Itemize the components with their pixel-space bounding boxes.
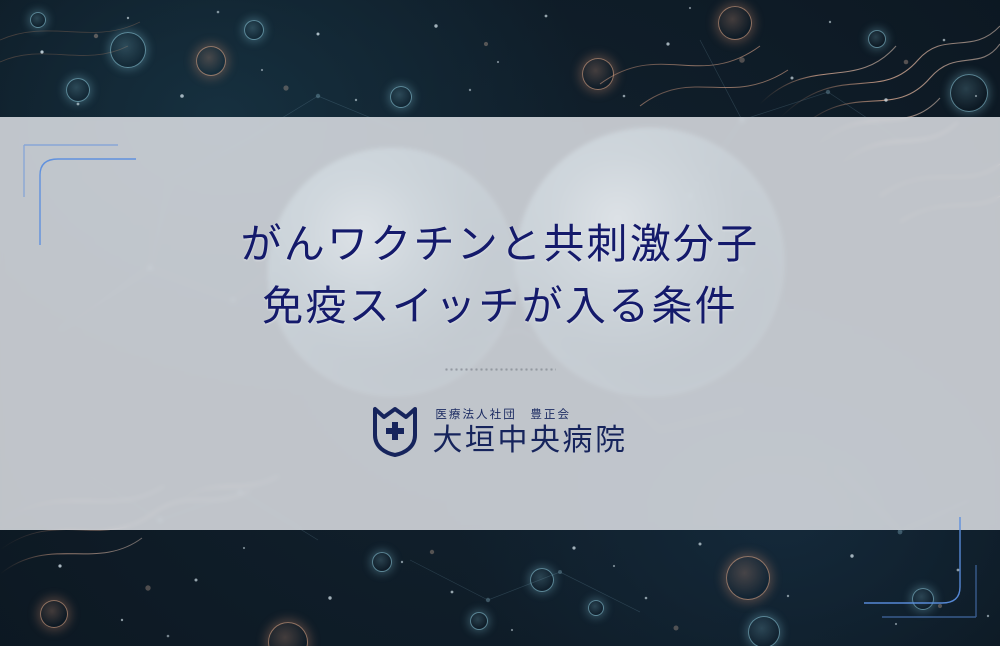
slide-title-line-1: がんワクチンと共刺激分子 [240, 213, 759, 275]
slide-canvas: がんワクチンと共刺激分子 免疫スイッチが入る条件 医療法人社団 豊正会 大垣中央… [0, 0, 1000, 646]
hospital-corporation-name: 医療法人社団 豊正会 [432, 406, 627, 422]
dotted-divider [444, 368, 556, 371]
slide-title-line-2: 免疫スイッチが入る条件 [262, 275, 738, 337]
hospital-shield-cross-icon [372, 405, 418, 457]
hospital-logo: 医療法人社団 豊正会 大垣中央病院 [372, 405, 627, 457]
slide-content: がんワクチンと共刺激分子 免疫スイッチが入る条件 医療法人社団 豊正会 大垣中央… [0, 117, 1000, 530]
hospital-name: 大垣中央病院 [432, 426, 627, 456]
hospital-logo-text: 医療法人社団 豊正会 大垣中央病院 [432, 406, 627, 456]
